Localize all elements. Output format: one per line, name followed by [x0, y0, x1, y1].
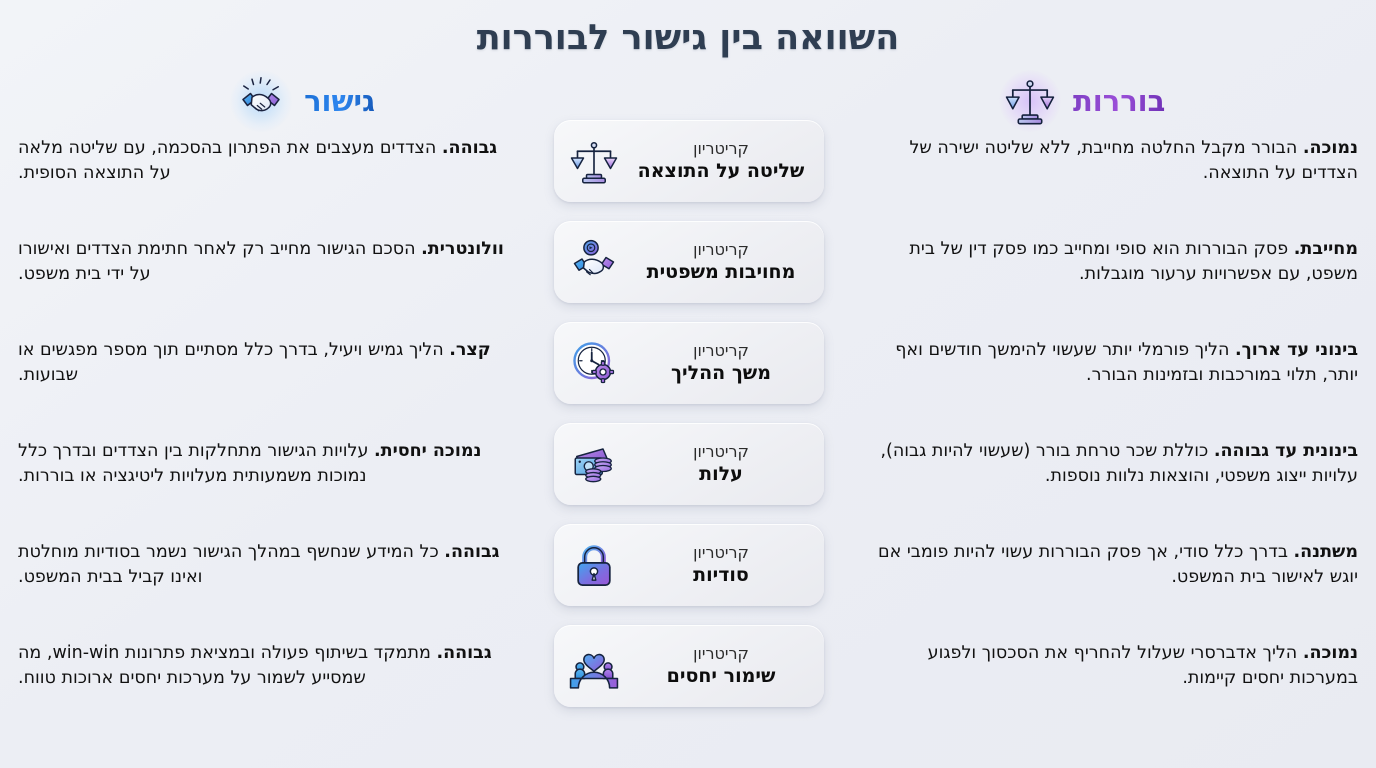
mediation-body-1: הצדדים מעצבים את הפתרון בהסכמה, עם שליטה…: [18, 138, 442, 183]
mediation-row-1: גבוהה. הצדדים מעצבים את הפתרון בהסכמה, ע…: [18, 120, 518, 202]
criteria-card-confidentiality[interactable]: קריטריון סודיות: [554, 524, 824, 606]
arbitration-lead-1: נמוכה.: [1303, 138, 1358, 158]
criteria-title: משך ההליך: [636, 362, 806, 385]
arbitration-body-2: פסק הבוררות הוא סופי ומחייב כמו פסק דין …: [909, 239, 1358, 284]
infographic-page: השוואה בין גישור לבוררות: [0, 0, 1376, 768]
column-header-mediation-label: גישור: [304, 84, 375, 118]
mediation-lead-6: גבוהה.: [436, 643, 491, 663]
mediation-row-5: גבוהה. כל המידע שנחשף במהלך הגישור נשמר …: [18, 524, 518, 606]
criteria-card-cost[interactable]: קריטריון עלות: [554, 423, 824, 505]
mediation-row-2: וולונטרית. הסכם הגישור מחייב רק לאחר חתי…: [18, 221, 518, 303]
handshake-seal-icon: [566, 234, 622, 290]
criteria-title: שליטה על התוצאה: [636, 160, 806, 183]
mediation-lead-2: וולונטרית.: [421, 239, 504, 259]
money-icon: [566, 436, 622, 492]
arbitration-row-5: משתנה. בדרך כלל סודי, אך פסק הבוררות עשו…: [858, 524, 1358, 606]
scales-icon: [1001, 72, 1059, 130]
arbitration-lead-5: משתנה.: [1294, 542, 1359, 562]
arbitration-row-6: נמוכה. הליך אדברסרי שעלול להחריף את הסכס…: [858, 625, 1358, 707]
mediation-lead-1: גבוהה.: [442, 138, 497, 158]
mediation-body-2: הסכם הגישור מחייב רק לאחר חתימת הצדדים ו…: [18, 239, 421, 284]
bridge-hearts-icon: [566, 638, 622, 694]
arbitration-row-3: בינוני עד ארוך. הליך פורמלי יותר שעשוי ל…: [858, 322, 1358, 404]
mediation-lead-4: נמוכה יחסית.: [374, 441, 481, 461]
criteria-title: מחויבות משפטית: [636, 261, 806, 284]
criteria-kicker: קריטריון: [693, 543, 749, 562]
criteria-kicker: קריטריון: [693, 644, 749, 663]
column-header-arbitration-label: בוררות: [1073, 84, 1165, 118]
criteria-card-legal-commitment[interactable]: קריטריון מחויבות משפטית: [554, 221, 824, 303]
lock-icon: [566, 537, 622, 593]
mediation-body-6: מתמקד בשיתוף פעולה ובמציאת פתרונות win-w…: [18, 643, 436, 688]
criteria-title: שימור יחסים: [636, 665, 806, 688]
arbitration-lead-3: בינוני עד ארוך.: [1235, 340, 1358, 360]
mediation-lead-3: קצר.: [449, 340, 491, 360]
mediation-lead-5: גבוהה.: [444, 542, 499, 562]
criteria-title: סודיות: [636, 564, 806, 587]
mediation-body-3: הליך גמיש ויעיל, בדרך כלל מסתיים תוך מספ…: [18, 340, 449, 385]
arbitration-body-1: הבורר מקבל החלטה מחייבת, ללא שליטה ישירה…: [909, 138, 1358, 183]
mediation-body-4: עלויות הגישור מתחלקות בין הצדדים ובדרך כ…: [18, 441, 374, 486]
mediation-row-4: נמוכה יחסית. עלויות הגישור מתחלקות בין ה…: [18, 423, 518, 505]
arbitration-row-2: מחייבת. פסק הבוררות הוא סופי ומחייב כמו …: [858, 221, 1358, 303]
criteria-card-outcome-control[interactable]: קריטריון שליטה על התוצאה: [554, 120, 824, 202]
criteria-kicker: קריטריון: [693, 240, 749, 259]
arbitration-body-6: הליך אדברסרי שעלול להחריף את הסכסוך ולפג…: [928, 643, 1358, 688]
arbitration-column: נמוכה. הבורר מקבל החלטה מחייבת, ללא שליט…: [858, 120, 1358, 726]
arbitration-lead-6: נמוכה.: [1303, 643, 1358, 663]
criteria-kicker: קריטריון: [693, 341, 749, 360]
arbitration-body-5: בדרך כלל סודי, אך פסק הבוררות עשוי להיות…: [878, 542, 1358, 587]
arbitration-row-1: נמוכה. הבורר מקבל החלטה מחייבת, ללא שליט…: [858, 120, 1358, 202]
criteria-title: עלות: [636, 463, 806, 486]
mediation-row-6: גבוהה. מתמקד בשיתוף פעולה ובמציאת פתרונו…: [18, 625, 518, 707]
scales-icon: [566, 133, 622, 189]
arbitration-lead-2: מחייבת.: [1294, 239, 1358, 259]
criteria-card-relationship[interactable]: קריטריון שימור יחסים: [554, 625, 824, 707]
criteria-card-duration[interactable]: קריטריון משך ההליך: [554, 322, 824, 404]
criteria-kicker: קריטריון: [693, 442, 749, 461]
mediation-row-3: קצר. הליך גמיש ויעיל, בדרך כלל מסתיים תו…: [18, 322, 518, 404]
mediation-body-5: כל המידע שנחשף במהלך הגישור נשמר בסודיות…: [18, 542, 444, 587]
criteria-kicker: קריטריון: [693, 139, 749, 158]
mediation-column: גבוהה. הצדדים מעצבים את הפתרון בהסכמה, ע…: [18, 120, 518, 726]
criteria-card-list: קריטריון שליטה על התוצאה: [554, 120, 824, 726]
arbitration-row-4: בינונית עד גבוהה. כוללת שכר טרחת בורר (ש…: [858, 423, 1358, 505]
page-title: השוואה בין גישור לבוררות: [0, 18, 1376, 58]
arbitration-lead-4: בינונית עד גבוהה.: [1214, 441, 1358, 461]
handshake-icon: [232, 72, 290, 130]
clock-gear-icon: [566, 335, 622, 391]
